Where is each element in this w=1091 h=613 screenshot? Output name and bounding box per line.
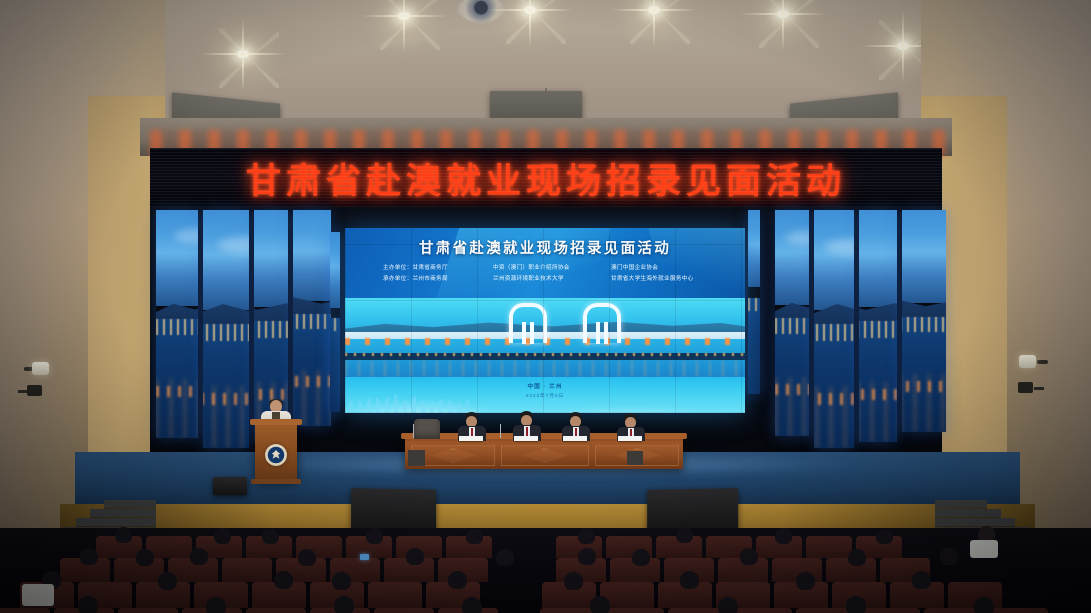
footer-skyline-graphic [349, 387, 469, 413]
audience-head [406, 548, 424, 565]
sky-l5 [330, 232, 340, 308]
led-strip-r2 [775, 210, 809, 436]
cityscape-r5 [902, 210, 946, 432]
name-card-3 [563, 436, 587, 441]
audience-head [158, 572, 177, 590]
left-wall-speaker [27, 385, 42, 396]
main-led-screen: 甘肃省赴澳就业现场招录见面活动 主办单位：甘肃省商务厅 中资（澳门）职业介绍所协… [345, 228, 745, 413]
led-strip-l2 [203, 210, 249, 448]
city-lights-r3 [814, 324, 854, 341]
audience-head [876, 529, 893, 544]
organizer-row-coorganizer: 承办单位：兰州市商务局 兰州资源环境职业技术大学 甘肃省大学生海外就业服务中心 [359, 274, 731, 285]
sky-l4 [293, 210, 331, 301]
cityscape-r1 [748, 210, 760, 394]
water-r1 [748, 298, 760, 394]
led-strip-l5 [330, 232, 340, 412]
step-r-2 [935, 509, 1001, 517]
audience-head [578, 528, 595, 544]
audience-head [466, 529, 483, 544]
led-strip-l1 [156, 210, 198, 438]
coorg-label: 承办单位：兰州市商务局 [383, 274, 475, 285]
right-wall-speaker [1018, 382, 1033, 393]
audience-head [676, 527, 693, 543]
sky-l2 [203, 210, 249, 310]
step-l-2 [90, 509, 156, 517]
name-card-2 [514, 436, 538, 441]
audience-head [78, 596, 98, 613]
reflections-r5 [902, 374, 946, 432]
screen-location: 中国 · 兰州 [345, 377, 745, 390]
audience-head [632, 549, 650, 566]
screen-header: 甘肃省赴澳就业现场招录见面活动 主办单位：甘肃省商务厅 中资（澳门）职业介绍所协… [345, 228, 745, 298]
audience-head [848, 549, 866, 566]
podium-emblem-icon [265, 444, 287, 466]
reflections-l2 [203, 386, 249, 448]
cityscape-r2 [775, 210, 809, 436]
screen-date: 2023年7月5日 [345, 392, 745, 399]
stage-floor-box-left [408, 450, 425, 466]
ceiling-spotlight-6 [777, 10, 789, 18]
right-wall-lamp-arm [1037, 360, 1048, 364]
host-label: 主办单位：甘肃省商务厅 [383, 263, 475, 274]
name-card-1 [459, 436, 483, 441]
table-microphone-1 [413, 424, 414, 438]
right-led-strip-group [748, 210, 765, 394]
head-table-diamond-1 [430, 448, 476, 463]
step-r-3 [935, 518, 1015, 526]
seat [988, 608, 1048, 613]
audience-head [206, 597, 226, 613]
audience-head [334, 596, 354, 613]
coorg-org-3: 甘肃省大学生海外就业服务中心 [611, 274, 694, 285]
screen-title: 甘肃省赴澳就业现场招录见面活动 [345, 228, 745, 258]
left-wall-lamp [32, 362, 49, 375]
stage-wedge-monitor-left [213, 477, 247, 495]
audience-head [740, 548, 758, 565]
coorg-org-2: 兰州资源环境职业技术大学 [493, 274, 593, 285]
audience-phone-screen [360, 554, 369, 560]
city-lights-l4 [293, 314, 331, 329]
photo-water-reflections [345, 361, 745, 377]
sky-l3 [254, 210, 288, 307]
audience-head [262, 529, 279, 544]
cityscape-l1 [156, 210, 198, 438]
audience-head [718, 597, 738, 613]
cityscape-r3 [814, 210, 854, 448]
reflections-l1 [156, 379, 198, 438]
audience-head [80, 548, 98, 565]
arch-leg-left-1 [522, 322, 526, 344]
audience-head [214, 528, 231, 544]
reflections-r2 [775, 377, 809, 436]
audience-head [846, 596, 866, 613]
spotlight-flare-4 [506, 0, 566, 44]
sky-r3 [814, 210, 854, 310]
ceiling-spotlight-3 [398, 12, 410, 20]
city-lights-l1 [156, 319, 198, 335]
audience-head [680, 571, 699, 589]
table-microphone-2 [500, 424, 501, 438]
sky-r2 [775, 210, 809, 305]
audience-head [448, 571, 467, 589]
sky-r1 [748, 210, 760, 287]
ceiling-spotlight-4 [524, 6, 536, 14]
photo-bridge-arch-left [509, 303, 547, 343]
sky-r4 [859, 210, 897, 307]
city-lights-l5 [330, 318, 340, 331]
left-inner-strip-group [330, 232, 345, 412]
cityscape-l2 [203, 210, 249, 448]
city-lights-l2 [203, 324, 249, 341]
seat [732, 608, 792, 613]
stage-floor-box-right [627, 451, 643, 465]
screen-photo-bridge [345, 298, 745, 377]
step-l-3 [76, 518, 156, 526]
cityscape-l4 [293, 210, 331, 426]
seat [860, 608, 920, 613]
city-lights-r2 [775, 318, 809, 334]
city-lights-r5 [902, 317, 946, 333]
host-org-3: 澳门中国企业协会 [611, 263, 658, 274]
water-l5 [330, 318, 340, 412]
arch-leg-left-2 [596, 322, 600, 344]
audience-head [136, 549, 154, 566]
right-wall-speaker-arm [1034, 387, 1044, 390]
speaker-podium [255, 424, 297, 480]
reflections-l4 [293, 370, 331, 426]
auditorium-scene: 甘肃省赴澳就业现场招录见面活动 [0, 0, 1091, 613]
audience-head [115, 527, 132, 543]
seat [118, 608, 178, 613]
step-r-1 [935, 500, 987, 508]
head-table-diamond-2 [522, 448, 568, 463]
name-card-4 [618, 436, 642, 441]
screen-organizers: 主办单位：甘肃省商务厅 中资（澳门）职业介绍所协会 澳门中国企业协会 承办单位：… [345, 263, 745, 285]
audience-head [462, 597, 482, 613]
seat [222, 558, 272, 582]
spotlight-flare-5 [630, 0, 690, 44]
led-strip-l4 [293, 210, 331, 426]
host-org-2: 中资（澳门）职业介绍所协会 [493, 263, 593, 274]
audience-head [974, 597, 994, 613]
sky-r5 [902, 210, 946, 303]
audience-head [298, 549, 316, 566]
sky-l1 [156, 210, 198, 306]
reflections-r3 [814, 386, 854, 448]
step-l-1 [104, 500, 156, 508]
led-strip-r5 [902, 210, 946, 432]
audience-light-shirt [22, 584, 54, 606]
cityscape-l5 [330, 232, 340, 412]
reflections-r4 [859, 382, 897, 442]
spotlight-flare-3 [380, 0, 440, 50]
photo-bridge-arch-right [583, 303, 621, 343]
left-led-strip-group [156, 210, 336, 448]
audience-head [940, 548, 958, 565]
arch-leg-right-1 [530, 322, 534, 344]
seat [0, 608, 50, 613]
audience-head [796, 572, 815, 590]
podium-top-surface [250, 419, 302, 425]
audience-head [775, 528, 792, 544]
seat [374, 608, 434, 613]
audience-head [366, 528, 383, 544]
led-banner-text: 甘肃省赴澳就业现场招录见面活动 [246, 153, 846, 204]
cityscape-r4 [859, 210, 897, 442]
audience-head [496, 549, 514, 566]
city-lights-r4 [859, 321, 897, 337]
seat [368, 582, 422, 608]
ceiling-spotlight-5 [648, 6, 660, 14]
city-lights-r1 [748, 298, 760, 311]
right-wall-lamp [1019, 355, 1036, 368]
seat [604, 608, 664, 613]
head-table-panel-2 [501, 445, 589, 466]
audience-head [190, 548, 208, 565]
spotlight-flare-2 [219, 28, 279, 88]
audience-head [332, 572, 351, 590]
podium-base [251, 479, 301, 484]
head-table-chair-empty [414, 419, 440, 439]
led-title-banner: 甘肃省赴澳就业现场招录见面活动 [150, 148, 942, 207]
audience-head [590, 596, 610, 613]
led-strip-r4 [859, 210, 897, 442]
ceiling-spotlight-2 [237, 50, 249, 58]
audience-head [578, 548, 596, 565]
audience-head [274, 571, 293, 589]
organizer-row-host: 主办单位：甘肃省商务厅 中资（澳门）职业介绍所协会 澳门中国企业协会 [359, 263, 731, 274]
right-led-strip-group-2 [775, 210, 951, 448]
seat [806, 536, 852, 558]
screen-footer: 中国 · 兰州 2023年7月5日 [345, 377, 745, 413]
photo-shore-lights [345, 353, 745, 356]
ceiling-spotlight-7 [897, 42, 909, 50]
seat [246, 608, 306, 613]
audience-head [564, 572, 583, 590]
led-strip-r1 [748, 210, 760, 394]
audience-area [0, 528, 1091, 613]
led-strip-r3 [814, 210, 854, 448]
city-lights-l3 [254, 321, 288, 337]
audience-light-shirt [970, 540, 998, 558]
spotlight-flare-6 [759, 0, 819, 48]
audience-head [912, 571, 931, 589]
arch-leg-right-2 [604, 322, 608, 344]
